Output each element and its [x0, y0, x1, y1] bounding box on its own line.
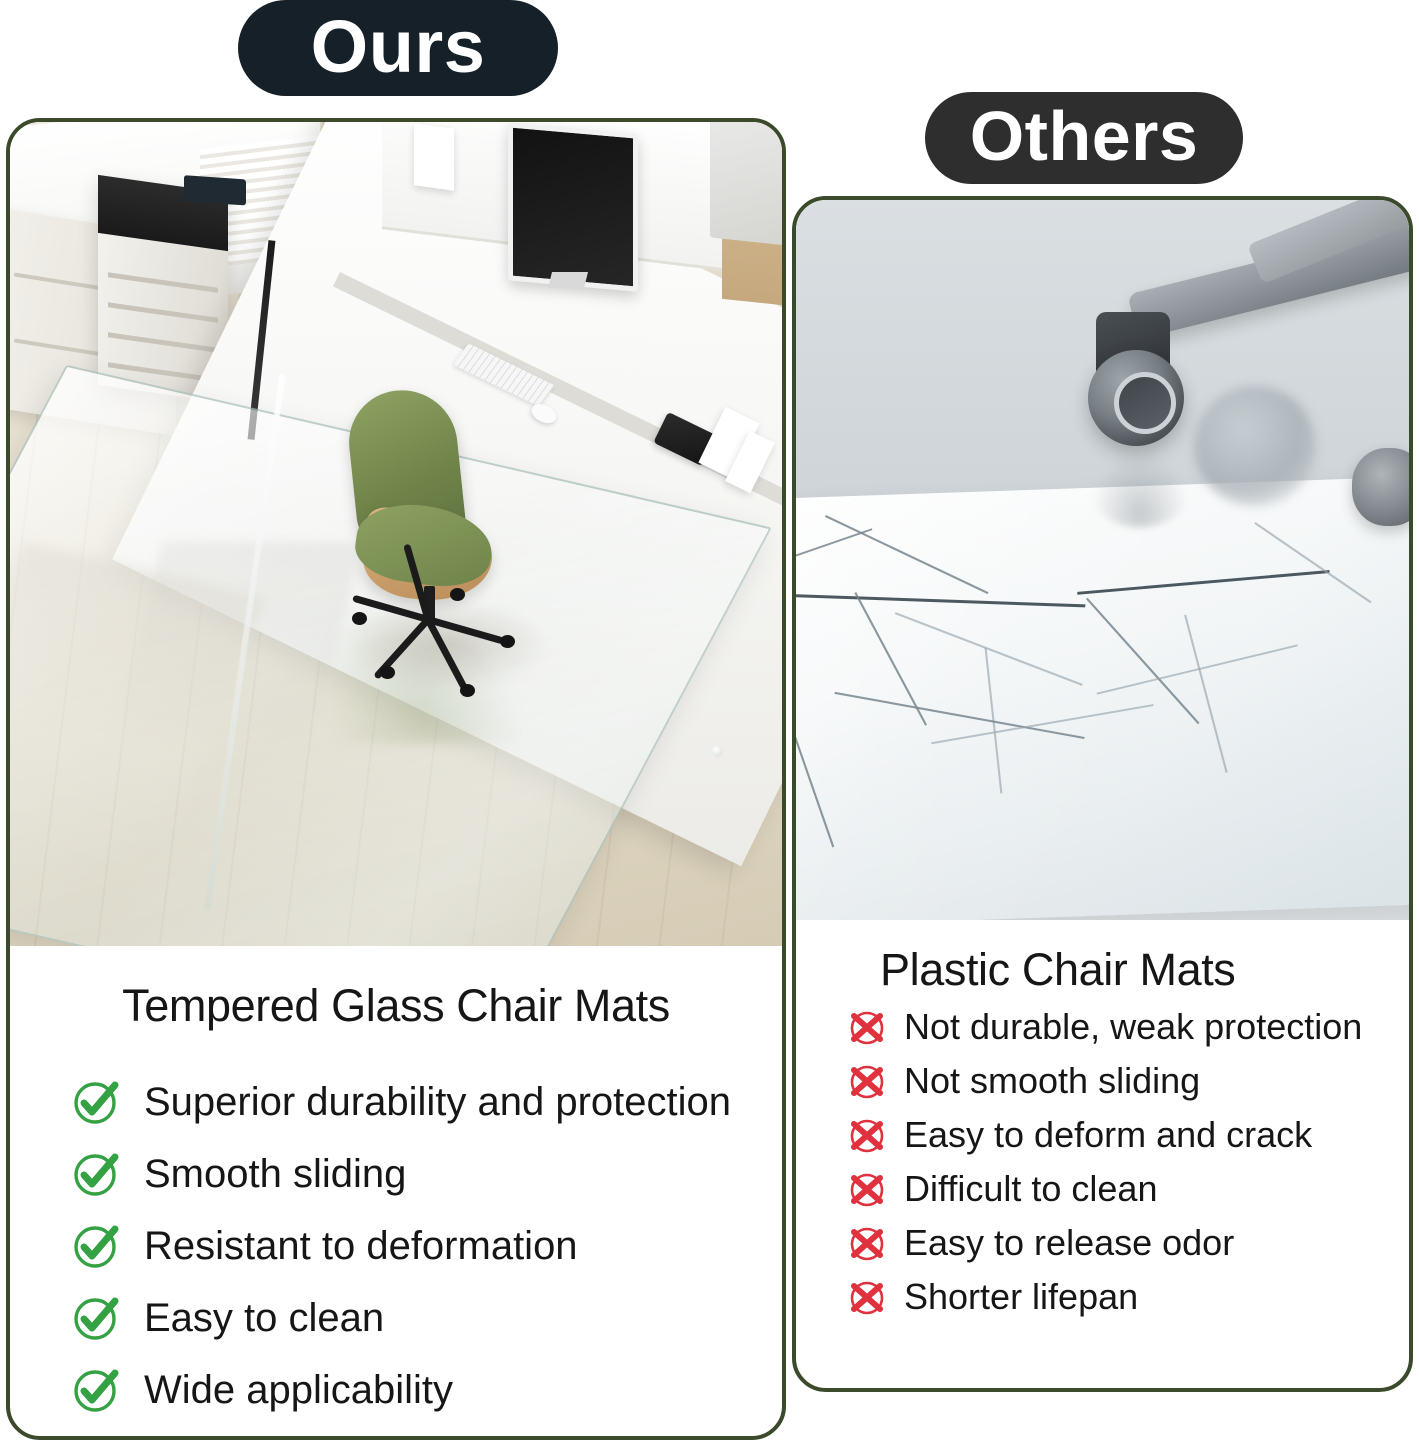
badge-others: Others — [925, 92, 1243, 184]
list-item: Easy to release odor — [846, 1222, 1409, 1264]
comparison-panel-others: Plastic Chair Mats Not durable, weak pro… — [792, 196, 1413, 1392]
printer-drawer — [108, 302, 218, 322]
printer-drawer — [108, 332, 218, 352]
check-circle-icon — [70, 1076, 122, 1128]
check-circle-icon — [70, 1148, 122, 1200]
glass-mat-stud — [712, 746, 723, 757]
product-photo-tempered-glass-mat — [10, 122, 782, 946]
caster-reflection — [1092, 454, 1188, 527]
list-item: Not durable, weak protection — [846, 1006, 1409, 1048]
check-circle-icon — [70, 1436, 122, 1440]
list-item: Smooth sliding — [70, 1148, 782, 1200]
badge-others-label: Others — [970, 96, 1199, 176]
chair-caster — [460, 684, 475, 697]
desktop-monitor — [508, 122, 638, 291]
others-content: Plastic Chair Mats Not durable, weak pro… — [796, 944, 1409, 1318]
list-item: Difficult to clean — [846, 1168, 1409, 1210]
comparison-panel-ours: Tempered Glass Chair Mats Superior durab… — [6, 118, 786, 1440]
list-item: Not smooth sliding — [846, 1060, 1409, 1102]
list-item-label: Smooth sliding — [144, 1152, 406, 1196]
list-item: Resistant to deformation — [70, 1220, 782, 1272]
office-chair — [328, 390, 558, 680]
second-monitor — [710, 122, 782, 247]
cracked-plastic-chair-mat — [796, 473, 1409, 920]
list-item-label: Not smooth sliding — [904, 1061, 1200, 1101]
cross-circle-icon — [846, 1114, 888, 1156]
cross-circle-icon — [846, 1222, 888, 1264]
list-item-label: Easy to release odor — [904, 1223, 1234, 1263]
chair-caster — [352, 612, 367, 625]
others-feature-list: Not durable, weak protection Not smooth … — [796, 1006, 1409, 1318]
list-item: Wide applicability — [70, 1364, 782, 1416]
cross-circle-icon — [846, 1060, 888, 1102]
check-circle-icon — [70, 1364, 122, 1416]
list-item: Superior durability and protection — [70, 1076, 782, 1128]
others-heading: Plastic Chair Mats — [796, 944, 1409, 996]
ours-content: Tempered Glass Chair Mats Superior durab… — [10, 980, 782, 1440]
monitor-stand — [548, 272, 588, 288]
list-item: Easy to clean — [70, 1292, 782, 1344]
blurred-caster — [1194, 386, 1316, 506]
printer-control-panel — [184, 175, 246, 205]
chair-caster-wheel — [1352, 448, 1409, 526]
ours-feature-list: Superior durability and protection Smoot… — [10, 1076, 782, 1440]
list-item-label: Difficult to clean — [904, 1169, 1157, 1209]
list-item-label: Easy to deform and crack — [904, 1115, 1312, 1155]
cross-circle-icon — [846, 1168, 888, 1210]
cross-circle-icon — [846, 1276, 888, 1318]
ours-heading: Tempered Glass Chair Mats — [10, 980, 782, 1032]
list-item-label: Easy to clean — [144, 1296, 384, 1340]
mat-gloss — [796, 473, 1409, 920]
list-item-label: Resistant to deformation — [144, 1224, 578, 1268]
product-photo-plastic-mat — [796, 200, 1409, 920]
cross-circle-icon — [846, 1006, 888, 1048]
badge-ours: Ours — [238, 0, 558, 96]
printer-drawer — [108, 272, 218, 292]
list-item-label: Wide applicability — [144, 1368, 453, 1412]
caster-hub — [1114, 372, 1176, 434]
list-item-label: Shorter lifepan — [904, 1277, 1138, 1317]
chair-caster — [450, 588, 465, 601]
paper-holder — [414, 123, 454, 191]
list-item: Shorter lifepan — [846, 1276, 1409, 1318]
chair-caster — [500, 635, 515, 648]
list-item: Easy to deform and crack — [846, 1114, 1409, 1156]
chair-caster-wheel — [1088, 350, 1184, 446]
check-circle-icon — [70, 1220, 122, 1272]
list-item: Longer-lasting — [70, 1436, 782, 1440]
list-item-label: Not durable, weak protection — [904, 1007, 1362, 1047]
chair-caster — [380, 666, 395, 679]
check-circle-icon — [70, 1292, 122, 1344]
badge-ours-label: Ours — [311, 4, 486, 89]
list-item-label: Superior durability and protection — [144, 1080, 731, 1124]
